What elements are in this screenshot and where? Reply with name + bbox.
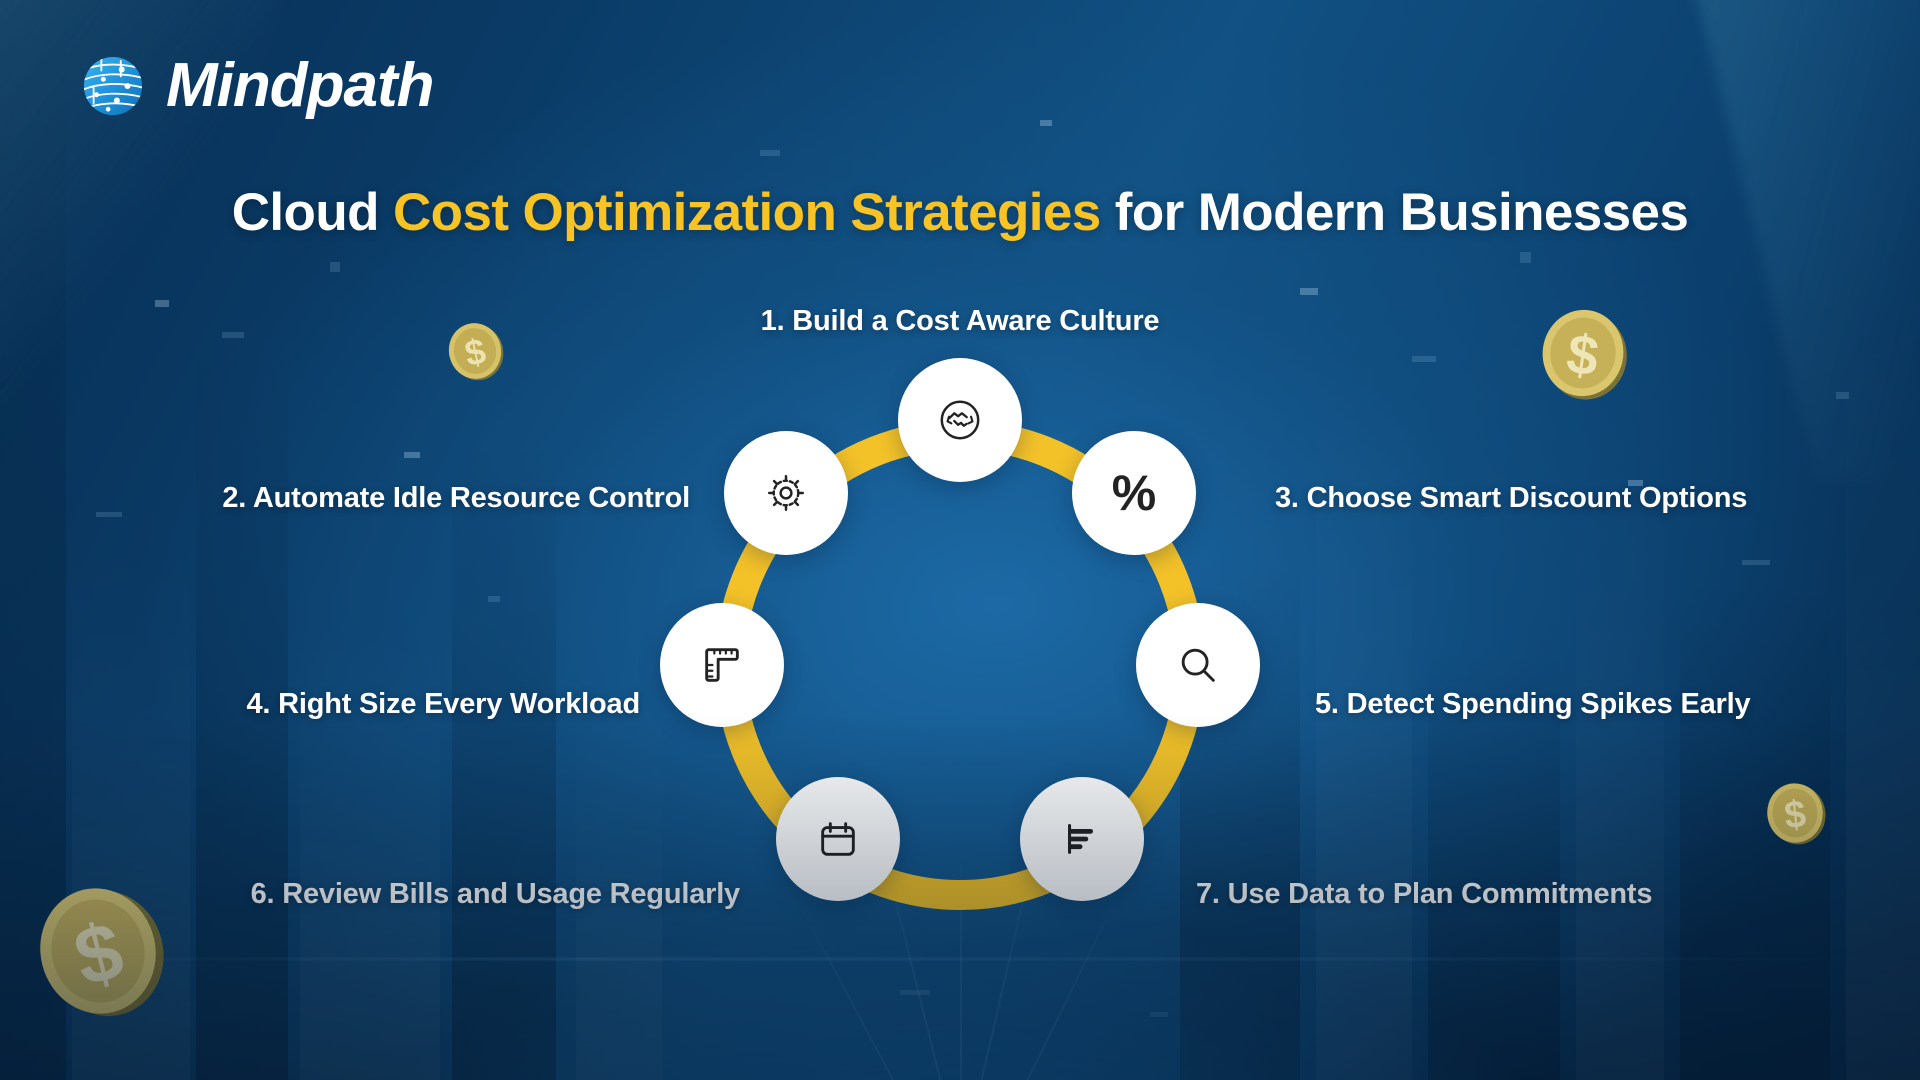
globe-circuit-icon — [82, 55, 144, 117]
step-label-7: 7. Use Data to Plan Commitments — [1196, 878, 1896, 911]
page-title: Cloud Cost Optimization Strategies for M… — [0, 182, 1920, 243]
step-label-2: 2. Automate Idle Resource Control — [60, 482, 690, 515]
wheel-node-5[interactable] — [1136, 603, 1260, 727]
title-highlight: Cost Optimization Strategies — [393, 183, 1101, 242]
gear-icon — [763, 470, 809, 516]
brand-logo[interactable]: Mindpath — [82, 55, 434, 117]
strategy-wheel: % — [660, 365, 1260, 965]
wheel-node-7[interactable] — [1020, 777, 1144, 901]
wheel-node-2[interactable] — [724, 431, 848, 555]
step-label-3: 3. Choose Smart Discount Options — [1275, 482, 1895, 515]
infographic-canvas: Mindpath Cloud Cost Optimization Strateg… — [0, 0, 1920, 1080]
step-label-4: 4. Right Size Every Workload — [60, 688, 640, 721]
wheel-node-4[interactable] — [660, 603, 784, 727]
wheel-node-6[interactable] — [776, 777, 900, 901]
dollar-coin-icon: $ — [1759, 777, 1832, 850]
wheel-node-3[interactable]: % — [1072, 431, 1196, 555]
dollar-coin-icon: $ — [438, 314, 512, 388]
title-lead: Cloud — [232, 183, 393, 242]
percent-icon: % — [1112, 468, 1156, 518]
step-label-5: 5. Detect Spending Spikes Early — [1315, 688, 1895, 721]
wheel-node-1[interactable] — [898, 358, 1022, 482]
svg-text:$: $ — [1782, 793, 1808, 838]
step-label-6: 6. Review Bills and Usage Regularly — [60, 878, 740, 911]
ruler-square-icon — [699, 642, 745, 688]
bar-chart-icon — [1059, 816, 1105, 862]
handshake-circle-icon — [937, 397, 983, 443]
dollar-coin-icon: $ — [1529, 299, 1637, 407]
brand-name: Mindpath — [166, 55, 434, 117]
title-trail: for Modern Businesses — [1101, 183, 1689, 242]
magnifier-icon — [1175, 642, 1221, 688]
calendar-icon — [815, 816, 861, 862]
step-label-1: 1. Build a Cost Aware Culture — [660, 305, 1260, 338]
